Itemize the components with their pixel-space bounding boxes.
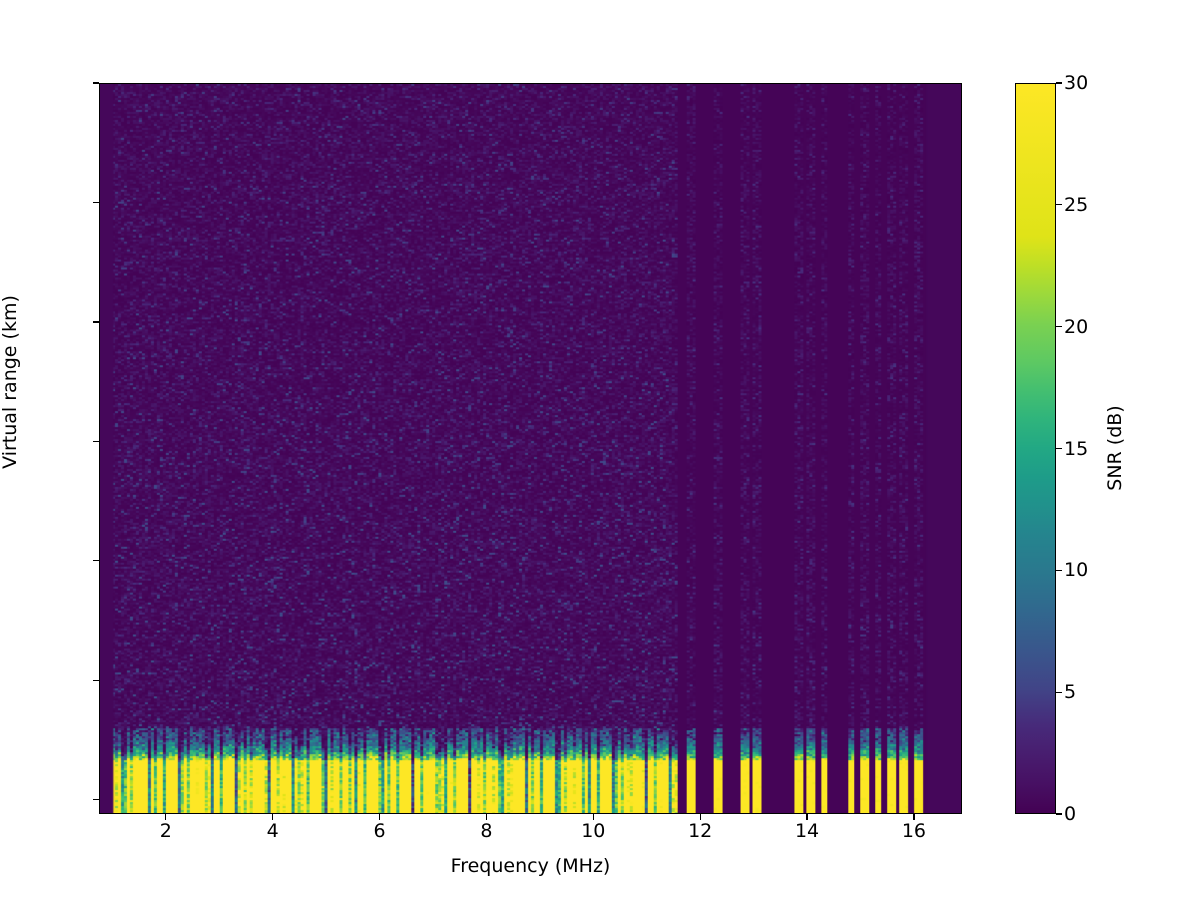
x-tick-mark	[913, 814, 914, 820]
x-tick-mark	[165, 814, 166, 820]
colorbar-tick-mark	[1056, 82, 1062, 83]
x-tick-label: 4	[213, 822, 333, 841]
colorbar-tick-label: 0	[1064, 805, 1076, 824]
x-tick-mark	[486, 814, 487, 820]
colorbar-tick-label: 5	[1064, 683, 1076, 702]
colorbar	[1015, 83, 1056, 814]
y-tick-mark	[93, 799, 99, 800]
y-tick-mark	[93, 680, 99, 681]
x-tick-label: 10	[533, 822, 653, 841]
x-tick-mark	[272, 814, 273, 820]
y-tick-mark	[93, 321, 99, 322]
colorbar-tick-label: 20	[1064, 318, 1088, 337]
heatmap-canvas	[100, 84, 961, 813]
colorbar-tick-mark	[1056, 813, 1062, 814]
ionogram-figure: IRF Kiruna Ionosonde KI167 2025-09-30 07…	[0, 0, 1200, 900]
y-tick-mark	[93, 441, 99, 442]
x-tick-mark	[379, 814, 380, 820]
x-tick-mark	[700, 814, 701, 820]
x-tick-mark	[806, 814, 807, 820]
colorbar-tick-label: 25	[1064, 196, 1088, 215]
y-tick-mark	[93, 202, 99, 203]
colorbar-label: SNR (dB)	[1104, 405, 1126, 490]
heatmap-plot-area	[99, 83, 962, 814]
y-axis-label: Virtual range (km)	[0, 295, 21, 469]
colorbar-tick-mark	[1056, 448, 1062, 449]
x-tick-label: 8	[426, 822, 546, 841]
y-tick-mark	[93, 560, 99, 561]
x-tick-label: 12	[640, 822, 760, 841]
x-tick-mark	[593, 814, 594, 820]
colorbar-tick-label: 15	[1064, 440, 1088, 459]
colorbar-tick-mark	[1056, 692, 1062, 693]
x-tick-label: 14	[747, 822, 867, 841]
colorbar-tick-mark	[1056, 204, 1062, 205]
colorbar-tick-mark	[1056, 326, 1062, 327]
colorbar-tick-label: 10	[1064, 561, 1088, 580]
x-axis-label: Frequency (MHz)	[99, 855, 962, 877]
x-tick-label: 2	[106, 822, 226, 841]
y-tick-mark	[93, 82, 99, 83]
colorbar-tick-mark	[1056, 570, 1062, 571]
x-tick-label: 6	[320, 822, 440, 841]
colorbar-tick-label: 30	[1064, 74, 1088, 93]
x-tick-label: 16	[854, 822, 974, 841]
